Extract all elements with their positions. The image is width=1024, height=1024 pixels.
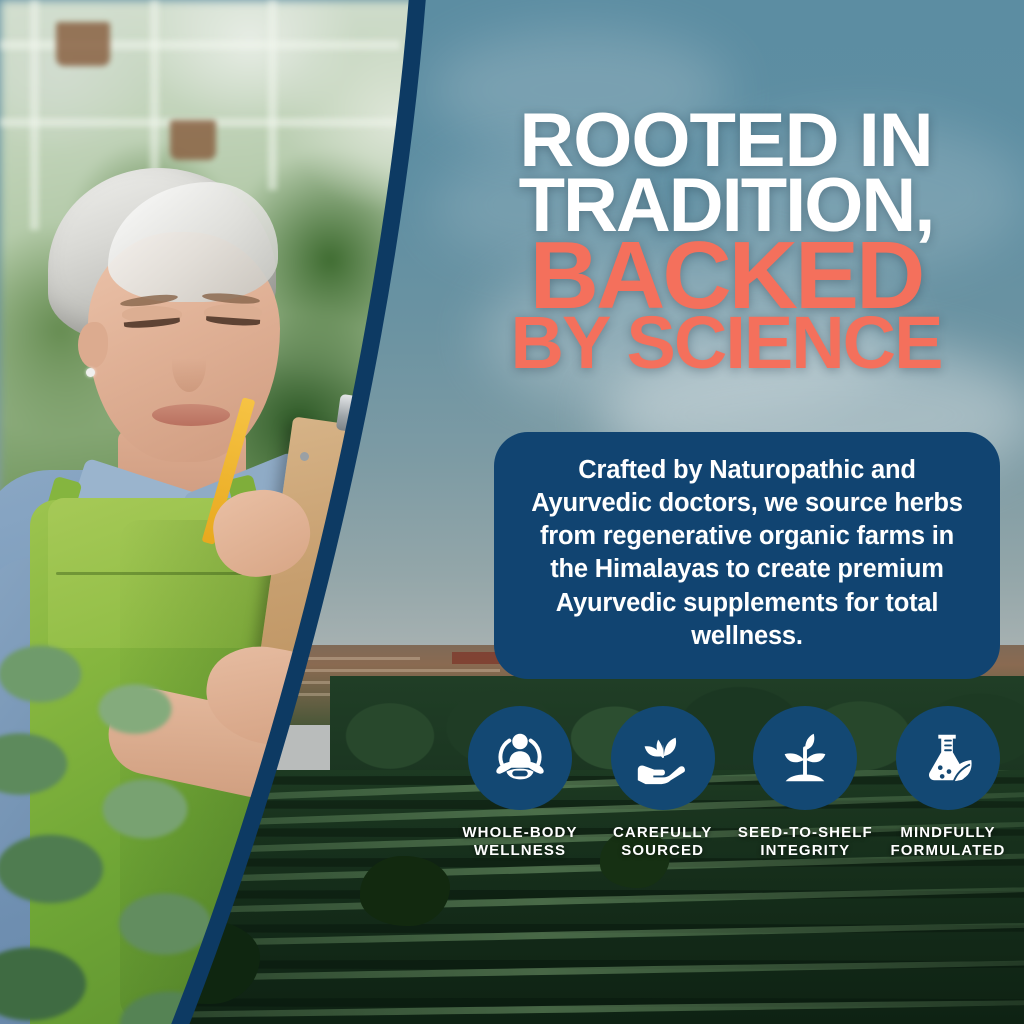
nose bbox=[172, 336, 206, 392]
body-copy-card: Crafted by Naturopathic and Ayurvedic do… bbox=[494, 432, 1000, 679]
flask-leaf-icon bbox=[917, 727, 979, 789]
feature-icon-circle bbox=[753, 706, 857, 810]
lips bbox=[152, 404, 230, 426]
ear bbox=[78, 322, 108, 368]
feature-icon-circle bbox=[468, 706, 572, 810]
page-title: ROOTED IN TRADITION, BACKED BY SCIENCE bbox=[452, 108, 1000, 375]
feature-carefully-sourced[interactable]: CAREFULLY SOURCED bbox=[595, 706, 731, 859]
hand-holding-leaves-icon bbox=[632, 727, 694, 789]
feature-label: CAREFULLY SOURCED bbox=[595, 824, 731, 859]
feature-label: MINDFULLY FORMULATED bbox=[880, 824, 1016, 859]
poster-canvas: ROOTED IN TRADITION, BACKED BY SCIENCE C… bbox=[0, 0, 1024, 1024]
feature-label: SEED-TO-SHELF INTEGRITY bbox=[737, 824, 873, 859]
clipboard-rivet bbox=[300, 452, 309, 461]
earring bbox=[86, 368, 95, 377]
feature-label: WHOLE-BODY WELLNESS bbox=[452, 824, 588, 859]
feature-seed-to-shelf-integrity[interactable]: SEED-TO-SHELF INTEGRITY bbox=[737, 706, 873, 859]
headline-line-4: BY SCIENCE bbox=[452, 311, 1000, 375]
meditation-lotus-icon bbox=[489, 727, 551, 789]
feature-icon-circle bbox=[896, 706, 1000, 810]
body-copy-text: Crafted by Naturopathic and Ayurvedic do… bbox=[520, 454, 974, 653]
feature-mindfully-formulated[interactable]: MINDFULLY FORMULATED bbox=[880, 706, 1016, 859]
feature-whole-body-wellness[interactable]: WHOLE-BODY WELLNESS bbox=[452, 706, 588, 859]
feature-icon-circle bbox=[611, 706, 715, 810]
feature-badge-list: WHOLE-BODY WELLNESS CAREFULLY SOURCED bbox=[452, 706, 1016, 859]
seedling-sprout-icon bbox=[774, 727, 836, 789]
